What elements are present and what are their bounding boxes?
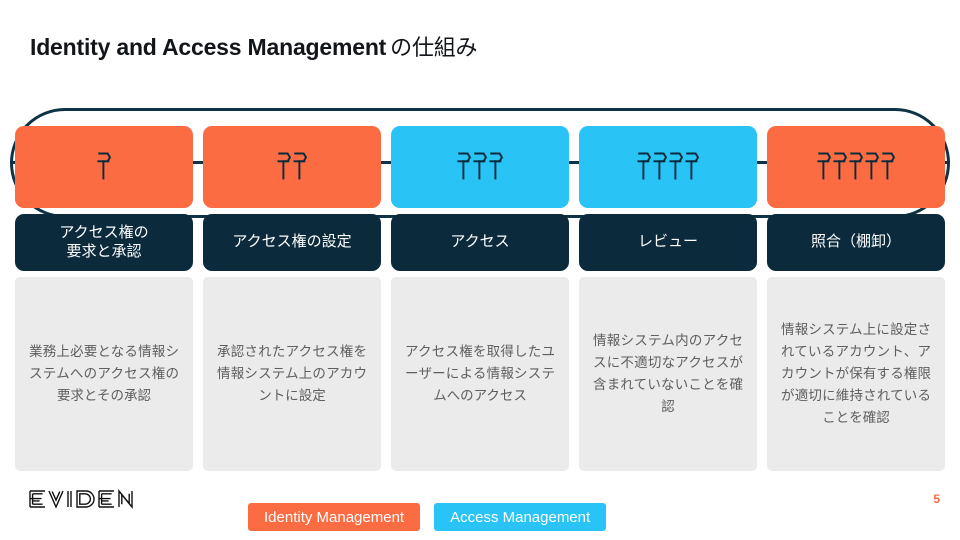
step-header-5[interactable]: 照合（棚卸） <box>767 214 945 271</box>
person-icon <box>97 147 112 187</box>
person-icon <box>849 147 864 187</box>
step-body-text-4: 情報システム内のアクセスに不適切なアクセスが含まれていないことを確認 <box>593 330 743 418</box>
process-icon-tile-5[interactable] <box>767 126 945 208</box>
step-body-panel-3: アクセス権を取得したユーザーによる情報システムへのアクセス <box>391 277 569 471</box>
person-icon <box>685 147 700 187</box>
person-icon <box>817 147 832 187</box>
page-title-english: Identity and Access Management <box>30 34 386 60</box>
page-number: 5 <box>933 492 940 506</box>
step-body-panel-5: 情報システム上に設定されているアカウント、アカウントが保有する権限が適切に維持さ… <box>767 277 945 471</box>
eviden-logo-icon <box>28 489 136 509</box>
step-body-text-2: 承認されたアクセス権を情報システム上のアカウントに設定 <box>217 341 367 407</box>
step-header-4[interactable]: レビュー <box>579 214 757 271</box>
person-icon-group-3 <box>457 147 504 187</box>
person-icon <box>653 147 668 187</box>
process-icon-tile-2[interactable] <box>203 126 381 208</box>
step-body-panel-2: 承認されたアクセス権を情報システム上のアカウントに設定 <box>203 277 381 471</box>
step-body-text-3: アクセス権を取得したユーザーによる情報システムへのアクセス <box>405 341 555 407</box>
legend-chip-identity-management[interactable]: Identity Management <box>248 503 420 531</box>
person-icon-group-2 <box>277 147 308 187</box>
step-header-1[interactable]: アクセス権の 要求と承認 <box>15 214 193 271</box>
legend: Identity Management Access Management <box>248 503 606 531</box>
process-icon-tiles <box>15 126 945 208</box>
person-icon <box>881 147 896 187</box>
person-icon <box>637 147 652 187</box>
step-body-panel-1: 業務上必要となる情報システムへのアクセス権の要求とその承認 <box>15 277 193 471</box>
person-icon <box>489 147 504 187</box>
slide-canvas: Identity and Access Managementの仕組み アクセス権… <box>0 0 960 540</box>
process-icon-tile-4[interactable] <box>579 126 757 208</box>
person-icon-group-4 <box>637 147 700 187</box>
step-body-text-5: 情報システム上に設定されているアカウント、アカウントが保有する権限が適切に維持さ… <box>781 319 931 429</box>
eviden-logo <box>28 489 136 509</box>
step-header-row: アクセス権の 要求と承認 アクセス権の設定 アクセス レビュー 照合（棚卸） <box>15 214 945 271</box>
person-icon <box>293 147 308 187</box>
person-icon-group-5 <box>817 147 896 187</box>
page-title: Identity and Access Managementの仕組み <box>30 30 477 62</box>
process-icon-tile-1[interactable] <box>15 126 193 208</box>
legend-chip-access-management[interactable]: Access Management <box>434 503 606 531</box>
person-icon-group-1 <box>97 147 112 187</box>
person-icon <box>833 147 848 187</box>
step-body-text-1: 業務上必要となる情報システムへのアクセス権の要求とその承認 <box>29 341 179 407</box>
person-icon <box>277 147 292 187</box>
step-header-2[interactable]: アクセス権の設定 <box>203 214 381 271</box>
person-icon <box>865 147 880 187</box>
person-icon <box>457 147 472 187</box>
step-body-row: 業務上必要となる情報システムへのアクセス権の要求とその承認 承認されたアクセス権… <box>15 277 945 471</box>
person-icon <box>669 147 684 187</box>
step-body-panel-4: 情報システム内のアクセスに不適切なアクセスが含まれていないことを確認 <box>579 277 757 471</box>
person-icon <box>473 147 488 187</box>
process-icon-tile-3[interactable] <box>391 126 569 208</box>
step-header-3[interactable]: アクセス <box>391 214 569 271</box>
page-title-japanese: の仕組み <box>390 35 477 60</box>
